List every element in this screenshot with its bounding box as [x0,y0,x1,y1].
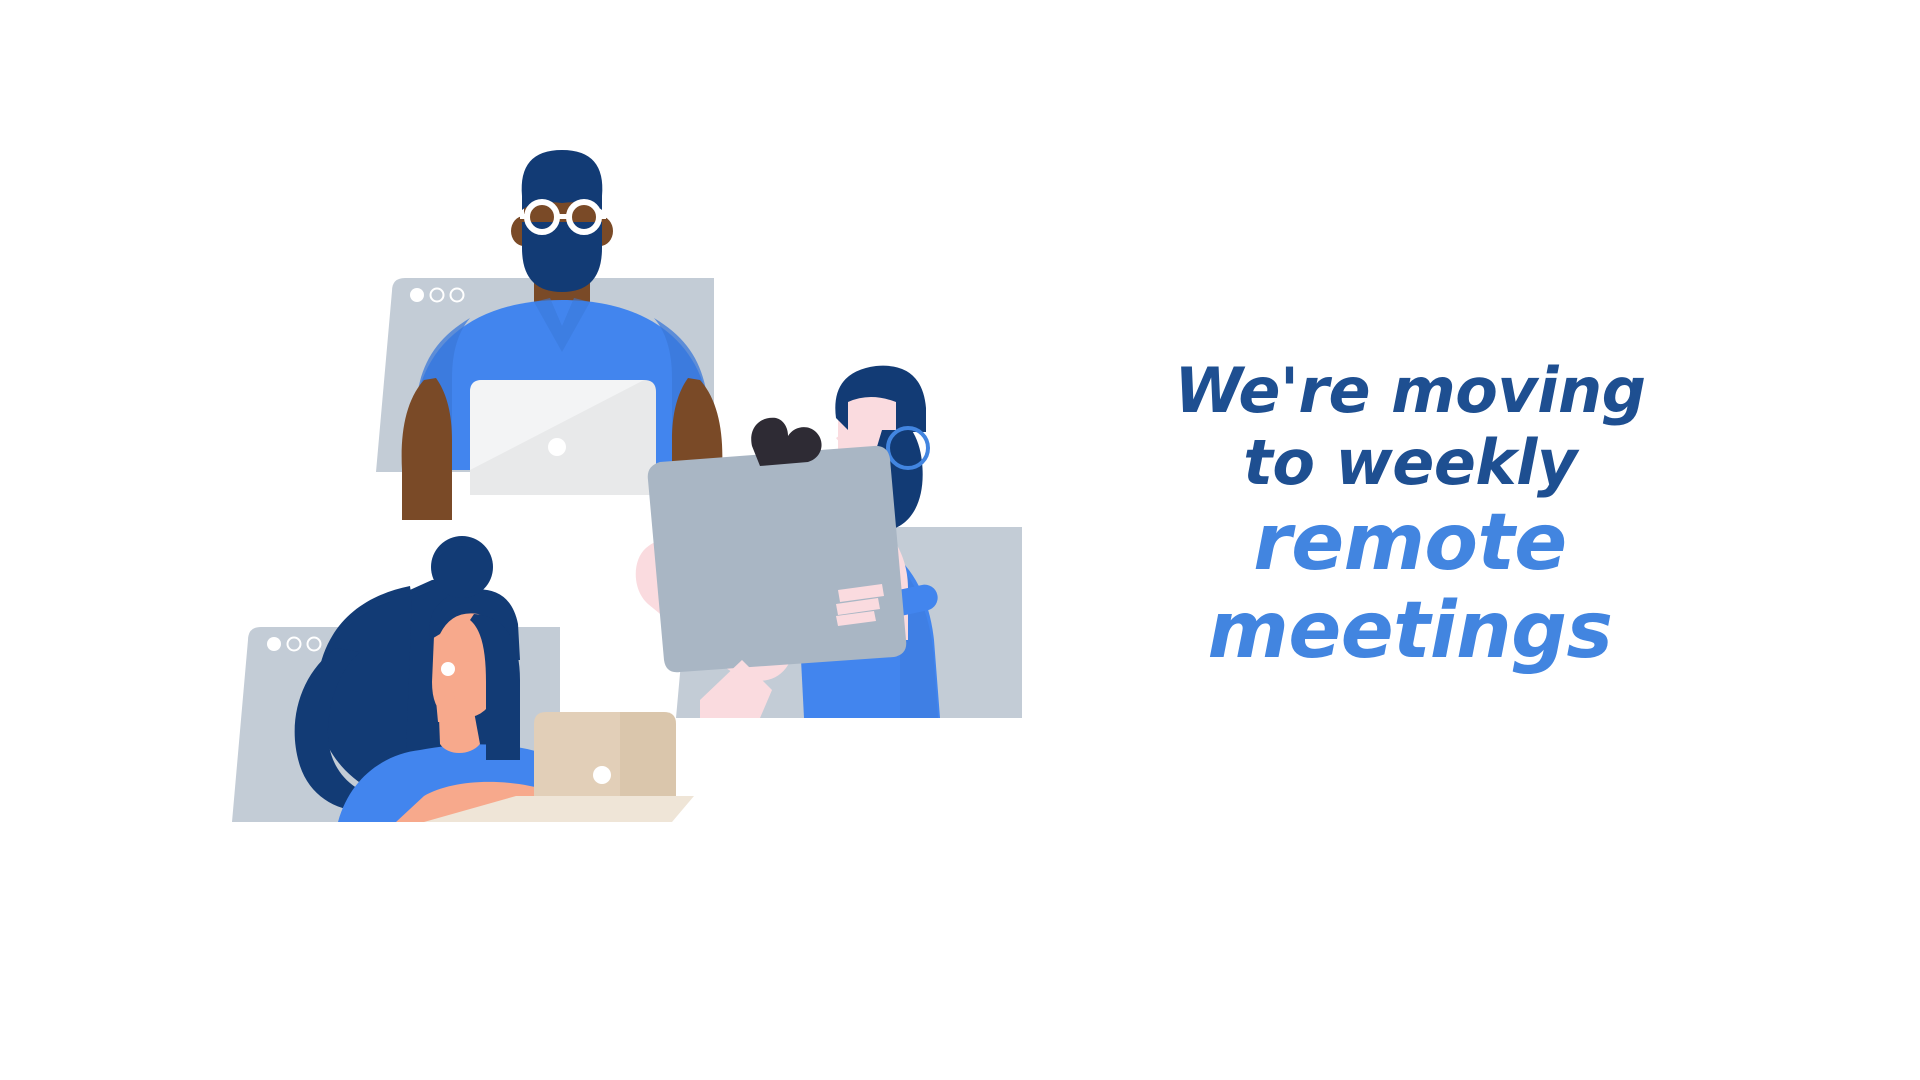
tan-laptop-lid-shade [620,712,676,796]
slide-canvas: We're moving to weekly remote meetings [0,0,1920,1080]
silver-laptop-camera-dot [548,438,566,456]
headline-block: We're moving to weekly remote meetings [1150,355,1670,675]
remote-meeting-illustration [0,0,1100,1080]
clipboard-clip [751,418,821,466]
headline-line-3: remote [1150,499,1670,587]
pearl-earring-icon [441,662,455,676]
clipboard-board [648,446,907,672]
tan-laptop-camera-dot [593,766,611,784]
video-window-bottom-left [232,536,694,822]
headline-line-4: meetings [1150,587,1670,675]
hair-bun [431,536,493,598]
headline-line-2: to weekly [1150,427,1670,499]
silver-laptop [470,380,656,495]
headline-line-1: We're moving [1150,355,1670,427]
